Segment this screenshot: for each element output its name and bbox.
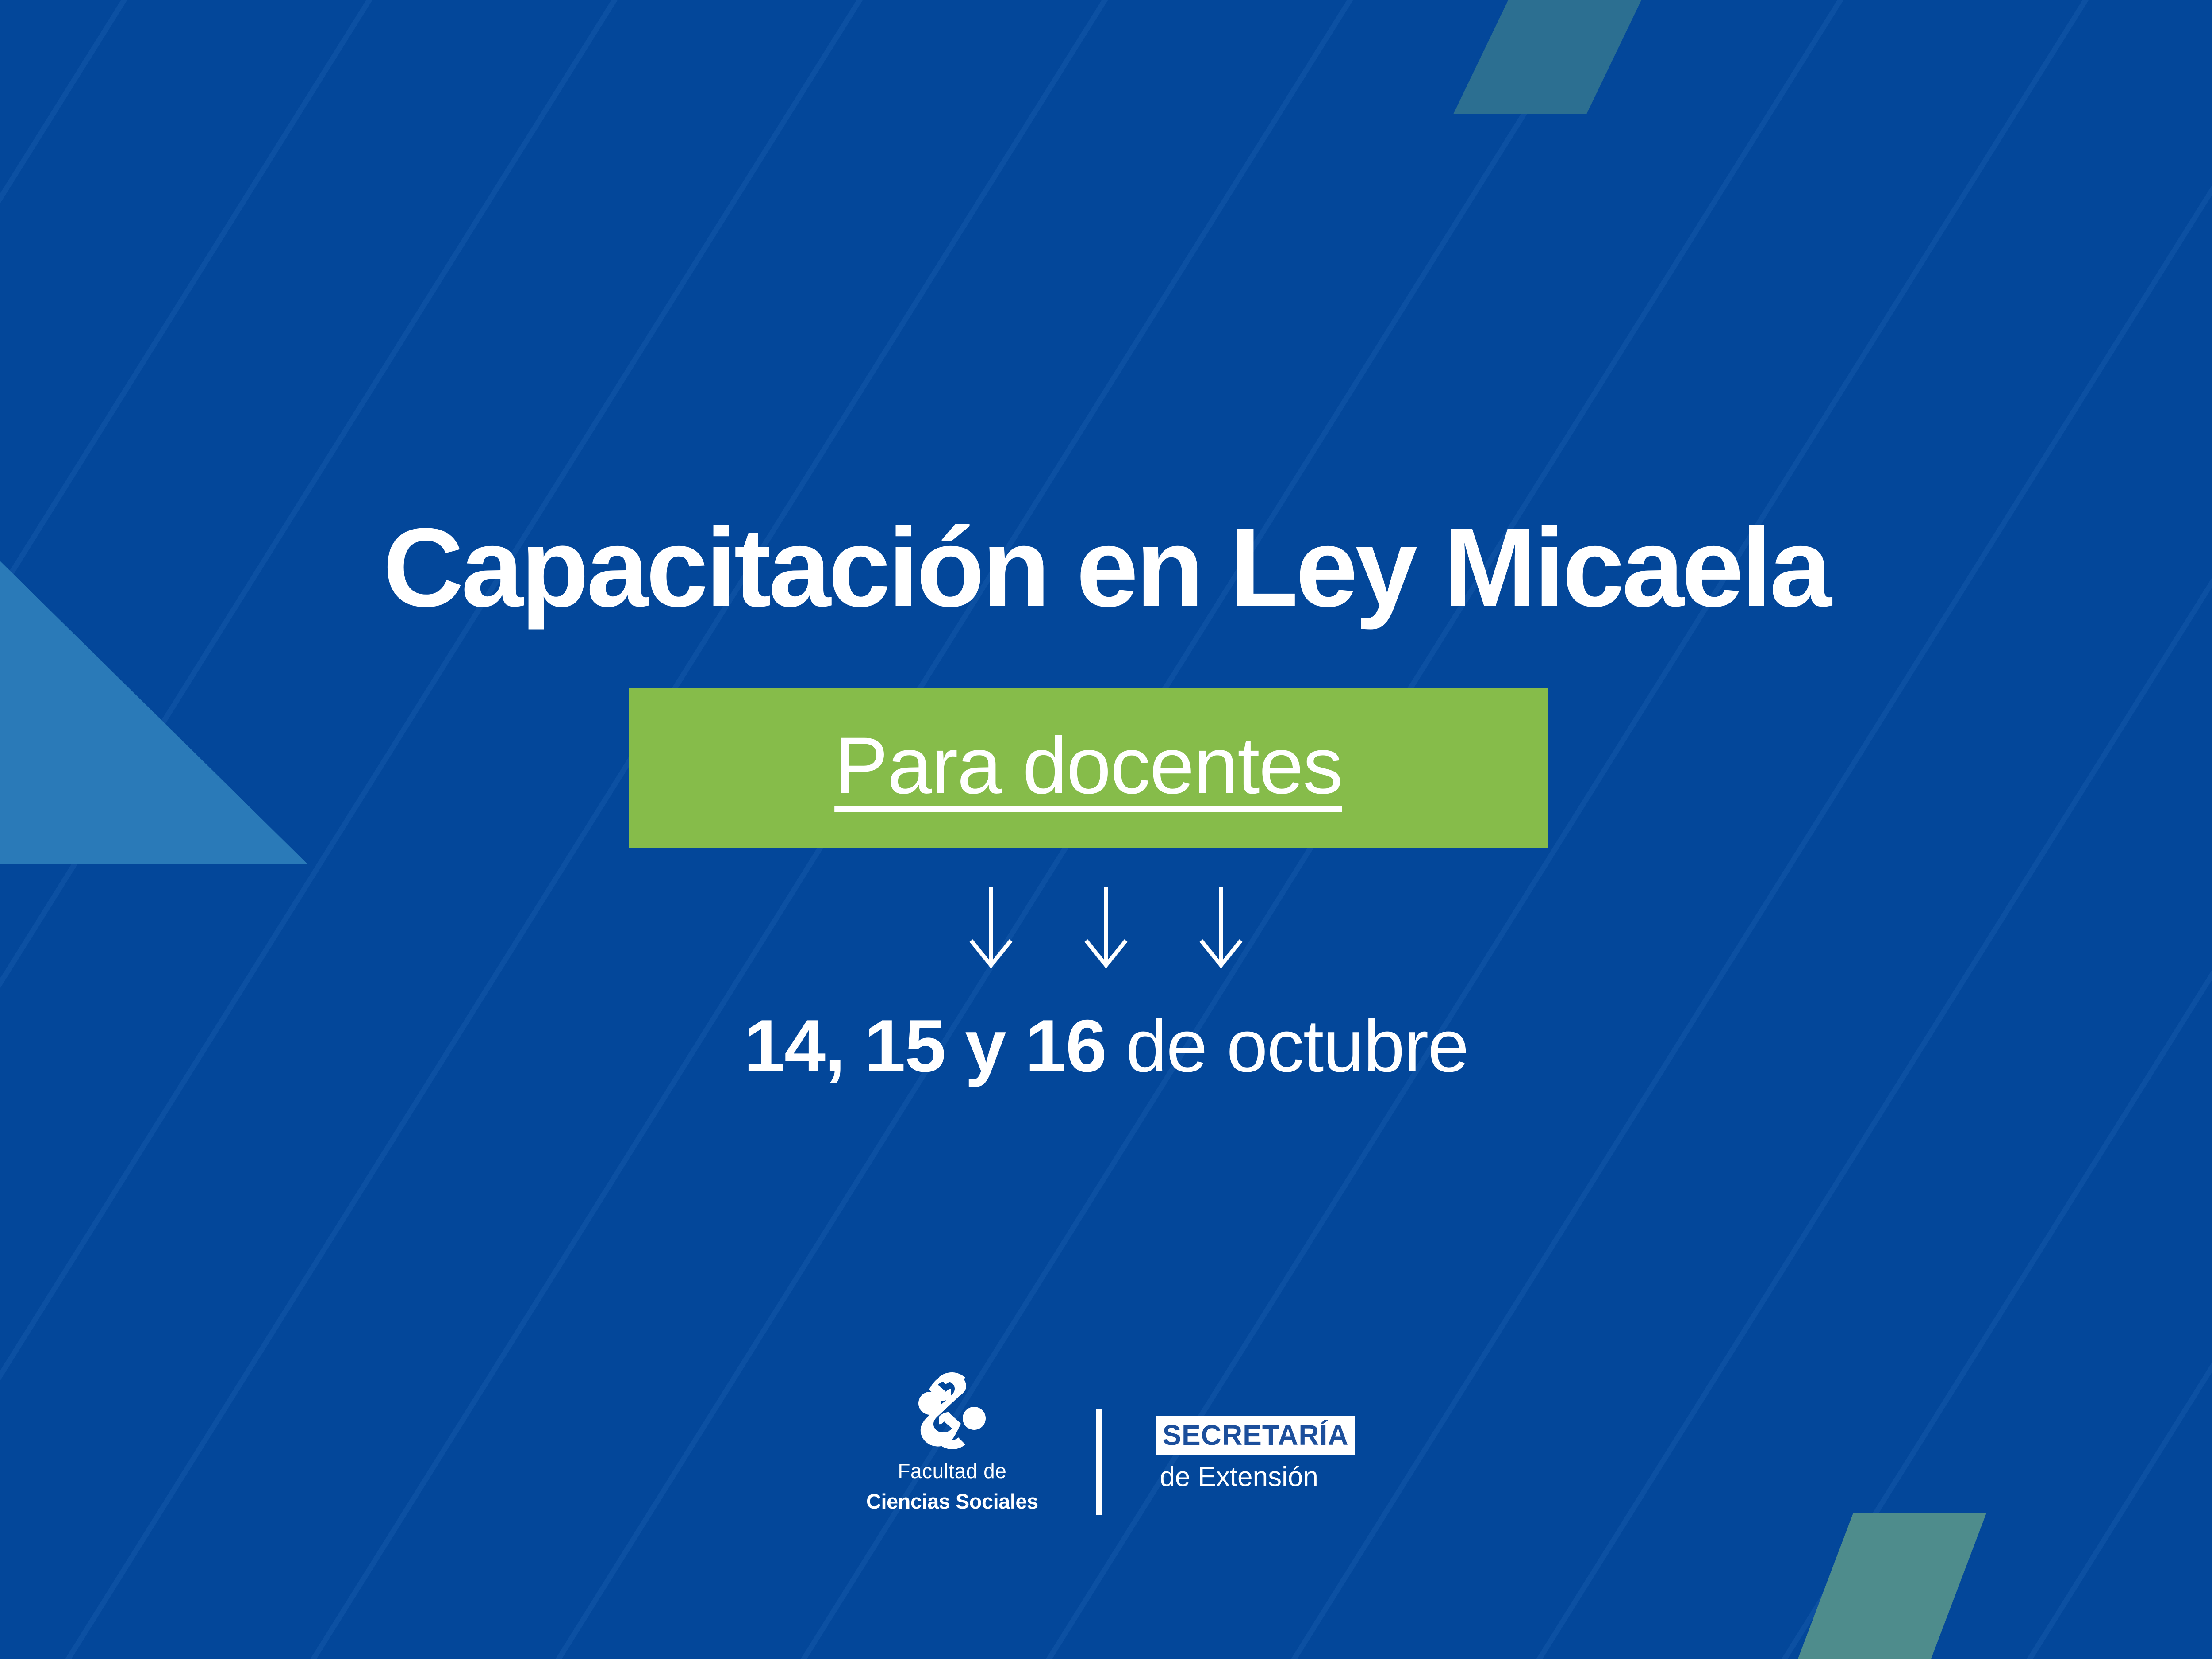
secretaria-subtitle: de Extensión bbox=[1156, 1463, 1318, 1491]
faculty-name-line2: Ciencias Sociales bbox=[866, 1491, 1038, 1512]
event-dates: 14, 15 y 16 de octubre bbox=[0, 1005, 2212, 1087]
event-dates-days: 14, 15 y 16 bbox=[744, 1004, 1106, 1087]
arrow-down-icon bbox=[1197, 885, 1245, 969]
arrow-down-icon bbox=[1082, 885, 1130, 969]
audience-badge-label: Para docentes bbox=[834, 725, 1342, 806]
poster-canvas: Capacitación en Ley Micaela Para docente… bbox=[0, 0, 2212, 1659]
faculty-logo-block: Facultad de Ciencias Sociales bbox=[857, 1371, 1047, 1512]
footer-logo-lockup: Facultad de Ciencias Sociales SECRETARÍA… bbox=[0, 1371, 2212, 1515]
logo-divider bbox=[1096, 1409, 1102, 1515]
faculty-name-line1: Facultad de bbox=[898, 1461, 1006, 1481]
arrow-down-icon bbox=[967, 885, 1015, 969]
event-dates-month: de octubre bbox=[1106, 1004, 1468, 1087]
secretaria-title: SECRETARÍA bbox=[1156, 1416, 1355, 1455]
arrow-group bbox=[0, 885, 2212, 969]
page-title: Capacitación en Ley Micaela bbox=[0, 509, 2212, 626]
facultad-ciencias-sociales-logo-icon bbox=[914, 1371, 990, 1450]
secretaria-logo-block: SECRETARÍA de Extensión bbox=[1156, 1416, 1355, 1491]
audience-badge: Para docentes bbox=[629, 688, 1548, 848]
poster-content: Capacitación en Ley Micaela Para docente… bbox=[0, 0, 2212, 1659]
